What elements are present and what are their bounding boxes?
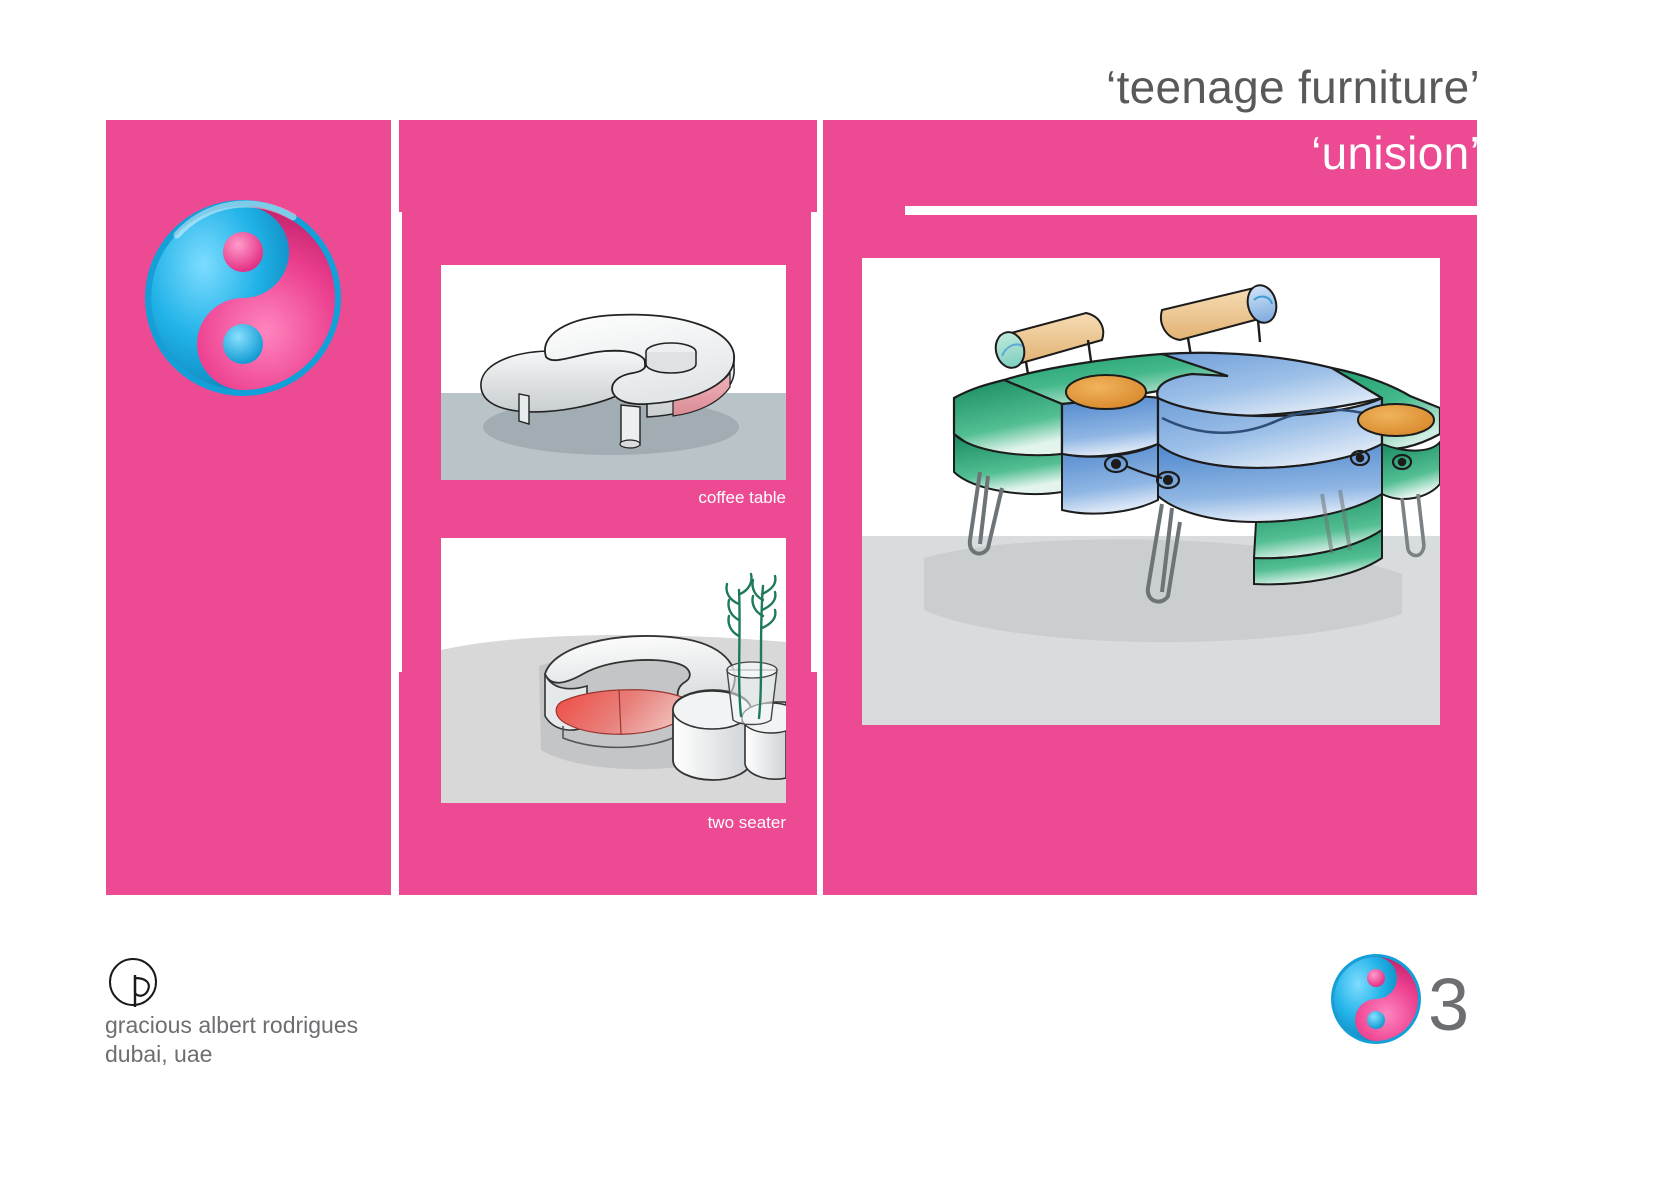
unision-illustration [862,258,1440,725]
page-title-primary: ‘teenage furniture’ [580,62,1480,113]
footer-yin-yang-icon: 3 [1330,952,1490,1047]
page-title-group: ‘teenage furniture’ [580,62,1480,113]
two-seater-illustration [441,538,786,803]
circle-leaf-mark [108,957,162,1011]
sketch-coffee-table [441,265,786,480]
sketch-unision-modular-bed [862,258,1440,725]
yin-yang-icon [143,197,343,399]
header-horizontal-rule [905,206,1478,215]
sketch-two-seater [441,538,786,803]
vertical-divider-right [811,212,817,672]
oval-cushion-left [1066,375,1146,409]
footer-logo-numeral: 3 [1428,963,1469,1046]
caption-coffee-table: coffee table [441,488,786,508]
footer-brand-logo: 3 [1330,952,1490,1047]
caption-two-seater: two seater [441,813,786,833]
page-title-secondary: ‘unision’ [580,128,1480,179]
coffee-table-illustration [441,265,786,480]
footer-credit: gracious albert rodrigues dubai, uae [105,1011,358,1070]
vertical-divider-left [396,212,402,672]
oval-cushion-right [1358,404,1434,436]
yin-yang-logo [143,197,343,399]
circle-leaf-icon [108,957,162,1011]
